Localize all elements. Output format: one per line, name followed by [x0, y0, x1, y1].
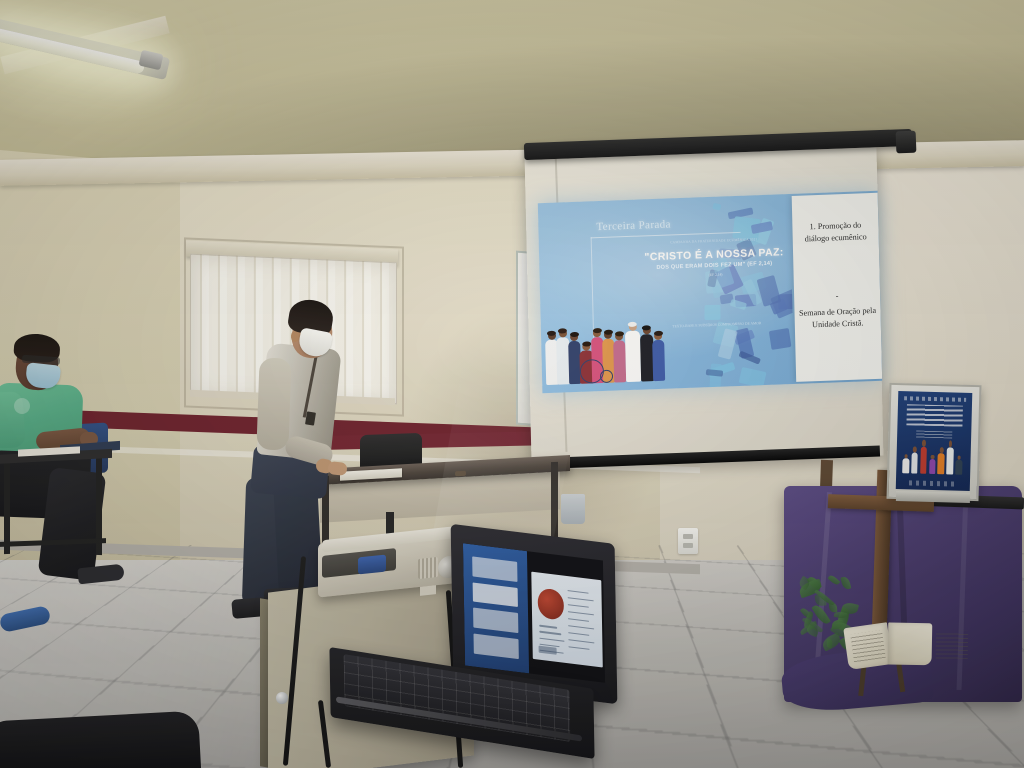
- poster-figure-head: [940, 447, 944, 453]
- poster-artwork: [896, 391, 973, 491]
- slide-text-line: [569, 625, 595, 630]
- poster-figure: [929, 459, 936, 475]
- slide-text-line-lower: [539, 631, 561, 635]
- slide-panel-dash: -: [798, 289, 876, 304]
- cabinet-lock-lower[interactable]: [276, 692, 288, 704]
- poster-title-block: [906, 404, 963, 427]
- plant-leaf: [828, 573, 841, 585]
- poster-figure: [946, 447, 953, 475]
- figure-hair: [653, 331, 662, 336]
- slide-sorter-sidebar[interactable]: [463, 543, 530, 673]
- poster-figure-head: [922, 439, 926, 446]
- outlet-socket-bottom: [683, 543, 693, 548]
- figure-hair: [603, 330, 612, 335]
- projected-slide: Terceira Parada CAMPANHA DA FRATERNIDADE…: [538, 191, 882, 393]
- poster-figure: [911, 452, 918, 474]
- poster-figure: [938, 453, 945, 475]
- poster-header-band: [904, 396, 966, 402]
- bible-page-left: [843, 622, 892, 670]
- foreground-chair: [0, 711, 202, 768]
- plant-leaf: [840, 576, 852, 591]
- slide-text-line-lower: [539, 637, 564, 642]
- illustration-figure: [625, 320, 642, 383]
- lamp-glow: [0, 0, 270, 180]
- slide-text-line: [569, 632, 590, 636]
- poster-figure-head: [931, 455, 935, 459]
- poster-figure: [955, 459, 962, 475]
- slide-text-line: [568, 604, 589, 608]
- wall-outlet[interactable]: [678, 528, 698, 554]
- slide-text-line-lower: [539, 625, 557, 629]
- projector-foot: [420, 585, 436, 596]
- projector-vent: [418, 557, 438, 579]
- poster-subtitle-block: [916, 431, 952, 439]
- poster-figure-head: [904, 454, 908, 458]
- desk-leg-right: [551, 462, 558, 540]
- bible-page-right: [888, 623, 933, 666]
- poster-figure: [920, 447, 927, 475]
- framed-poster: [886, 383, 981, 501]
- slide-text-line: [569, 646, 590, 650]
- slide-thumbnail[interactable]: [473, 582, 518, 607]
- slide-panel-item-2: Semana de Oração pela Unidade Cristã.: [798, 305, 877, 332]
- screen-case-end: [896, 131, 917, 154]
- slide-thumbnail[interactable]: [473, 634, 518, 659]
- figure-hair: [582, 341, 591, 346]
- figure-hair: [569, 332, 578, 337]
- vga-cable-plug[interactable]: [358, 555, 386, 575]
- figure-body: [613, 340, 626, 382]
- laptop-current-slide: [531, 571, 603, 668]
- slide-text-line: [569, 639, 595, 644]
- poster-figure-head: [913, 447, 917, 453]
- poster-figure-head: [949, 440, 953, 447]
- slide-circular-graphic: [537, 588, 564, 621]
- slide-text-line: [568, 618, 589, 622]
- slide-people-illustration: [544, 294, 680, 385]
- student-desk-leg-left: [4, 458, 10, 554]
- laptop-screen[interactable]: [463, 543, 605, 683]
- presenter-sleeve: [256, 357, 291, 450]
- slide-text-line: [568, 611, 594, 616]
- presenter-hand-right: [327, 461, 347, 476]
- slide-text-line: [568, 597, 594, 602]
- bible-text-left: [850, 630, 886, 662]
- open-bible: [845, 622, 933, 670]
- slide-thumbnail[interactable]: [473, 608, 518, 633]
- poster-figure-head: [957, 455, 961, 459]
- slide-text-panel: 1. Promoção do diálogo ecumênico - Seman…: [792, 193, 882, 382]
- figure-body: [652, 340, 665, 381]
- poster-figure: [902, 458, 909, 474]
- slide-panel-item-1: 1. Promoção do diálogo ecumênico: [796, 219, 875, 246]
- slide-thumbnail[interactable]: [472, 557, 517, 582]
- illustration-figure: [652, 329, 665, 381]
- poster-stand-base: [896, 491, 970, 503]
- small-object-on-desk[interactable]: [455, 471, 466, 477]
- bible-text-right: [936, 630, 968, 659]
- figure-hair: [614, 331, 623, 336]
- trash-bin: [561, 494, 585, 524]
- figure-hair: [592, 328, 601, 333]
- tshirt-logo: [14, 398, 30, 414]
- poster-footer-band: [909, 481, 956, 487]
- outlet-socket-top: [683, 534, 693, 539]
- figure-body: [625, 331, 641, 383]
- slide-text-line: [568, 590, 589, 594]
- presentation-room-photo: Terceira Parada CAMPANHA DA FRATERNIDADE…: [0, 0, 1024, 768]
